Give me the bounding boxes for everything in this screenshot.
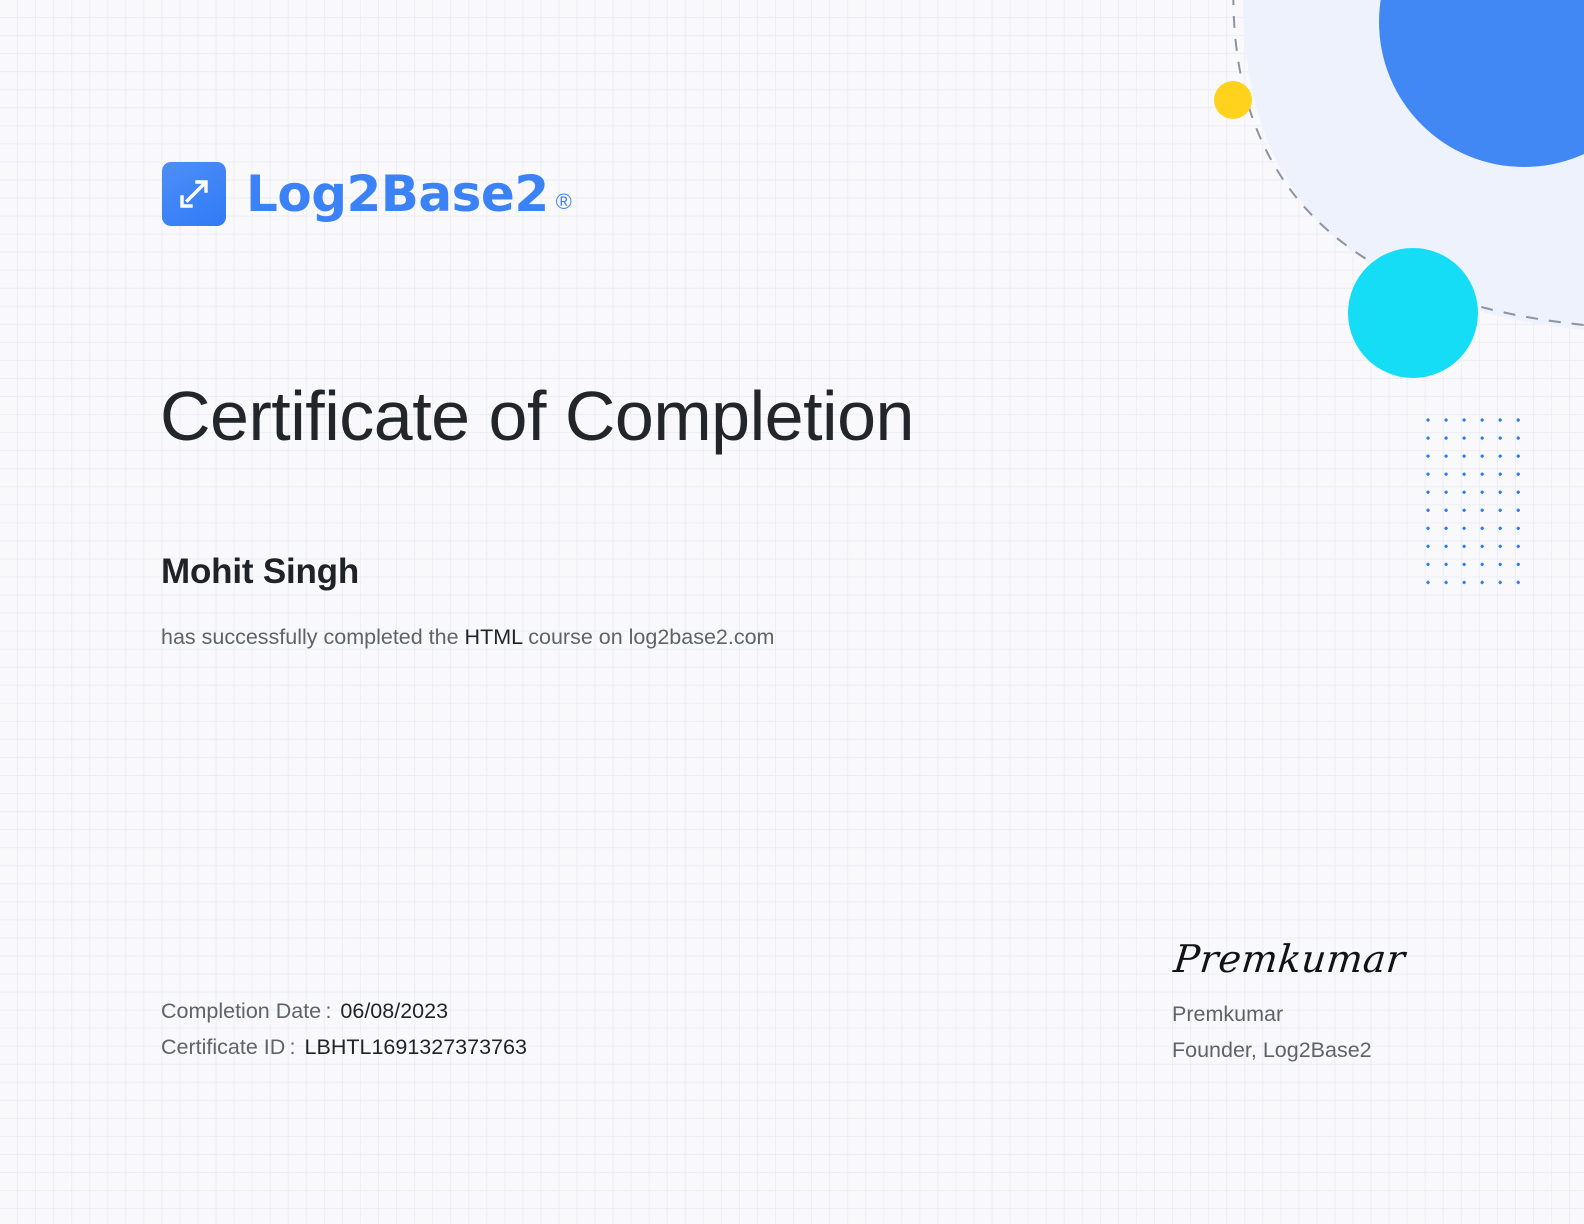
completion-statement-prefix: has successfully completed the (161, 625, 465, 649)
course-name: HTML (465, 625, 523, 649)
blue-dot-grid-pattern (1417, 409, 1531, 595)
signature-image: Premkumar (1172, 940, 1516, 978)
cyan-circle (1348, 248, 1478, 378)
tint-region (1243, 0, 1584, 330)
completion-statement-suffix: course on log2base2.com (522, 625, 774, 649)
blue-circle (1379, 0, 1584, 167)
certificate-meta: Completion Date :06/08/2023 Certificate … (161, 993, 527, 1065)
completion-statement: has successfully completed the HTML cour… (161, 620, 774, 654)
certificate-id-row: Certificate ID :LBHTL1691327373763 (161, 1029, 527, 1065)
brand-header: Log2Base2 ® (162, 162, 572, 226)
expand-arrow-icon (176, 176, 212, 212)
signature-block: Premkumar Premkumar Founder, Log2Base2 (1172, 940, 1512, 1068)
recipient-name: Mohit Singh (161, 551, 359, 593)
completion-date-value: 06/08/2023 (340, 999, 448, 1023)
certificate-page: Log2Base2 ® Certificate of Completion Mo… (0, 0, 1584, 1224)
decorative-corner-artwork (1084, 0, 1584, 480)
log2base2-logo-mark (162, 162, 226, 226)
yellow-dot (1214, 81, 1252, 119)
certificate-id-value: LBHTL1691327373763 (305, 1035, 527, 1059)
completion-date-label: Completion Date : (161, 999, 331, 1023)
signatory-role: Founder, Log2Base2 (1172, 1032, 1512, 1068)
brand-wordmark: Log2Base2 (246, 169, 549, 219)
registered-trademark-icon: ® (556, 191, 572, 213)
signatory-name: Premkumar (1172, 996, 1512, 1032)
certificate-id-label: Certificate ID : (161, 1035, 296, 1059)
certificate-title: Certificate of Completion (160, 381, 914, 451)
completion-date-row: Completion Date :06/08/2023 (161, 993, 527, 1029)
dashed-arc-path (1233, 0, 1584, 325)
